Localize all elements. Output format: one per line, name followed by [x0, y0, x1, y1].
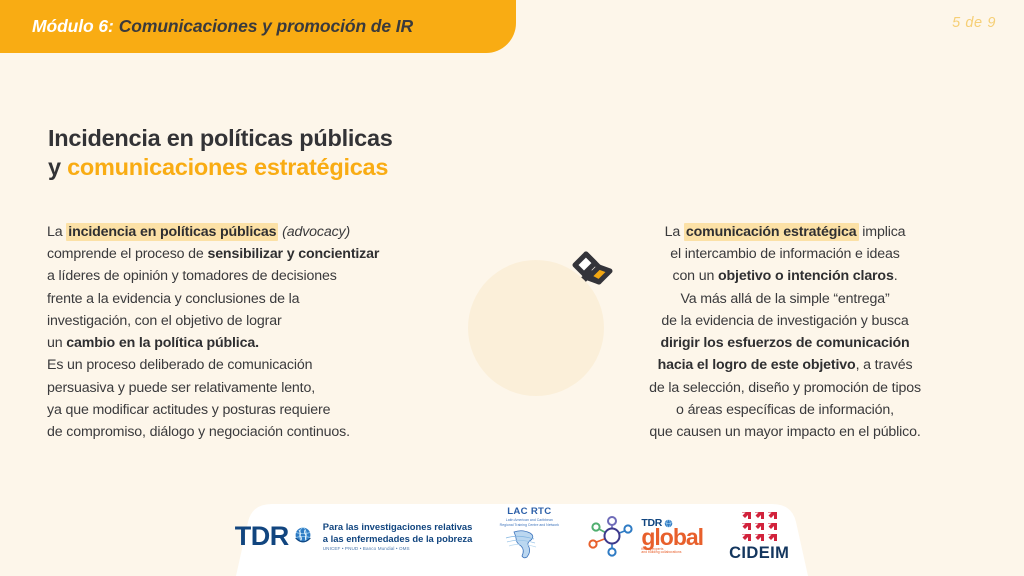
left-line-1-italic: (advocacy) — [278, 224, 350, 240]
left-line-5: investigación, con el objetivo de lograr — [47, 310, 517, 332]
left-line-3: a líderes de opinión y tomadores de deci… — [47, 265, 517, 287]
right-highlight-comunicacion: comunicación estratégica — [684, 223, 859, 241]
page-title-line-2-plain: y — [48, 154, 67, 180]
left-line-2-pre: comprende el proceso de — [47, 246, 207, 262]
right-line-3-bold: objetivo o intención claros — [718, 268, 894, 284]
right-line-5: de la evidencia de investigación y busca — [585, 310, 985, 332]
target-glow — [468, 260, 604, 396]
right-line-9: o áreas específicas de información, — [585, 399, 985, 421]
left-line-8: persuasiva y puede ser relativamente len… — [47, 377, 517, 399]
right-line-2: el intercambio de información e ideas — [585, 243, 985, 265]
right-line-7-bold: hacia el logro de este objetivo — [658, 357, 856, 373]
right-line-10: que causen un mayor impacto en el públic… — [585, 421, 985, 443]
module-banner: Módulo 6: Comunicaciones y promoción de … — [0, 0, 516, 53]
left-line-6-bold: cambio en la política pública. — [66, 335, 259, 351]
right-line-6: dirigir los esfuerzos de comunicación — [585, 332, 985, 354]
left-line-7: Es un proceso deliberado de comunicación — [47, 354, 517, 376]
left-line-1: La incidencia en políticas públicas (adv… — [47, 221, 517, 243]
right-line-7-post: , a través — [856, 357, 913, 373]
left-line-10: de compromiso, diálogo y negociación con… — [47, 421, 517, 443]
right-line-3: con un objetivo o intención claros. — [585, 265, 985, 287]
right-line-6-bold: dirigir los esfuerzos de comunicación — [660, 335, 909, 351]
module-label: Módulo 6: — [32, 16, 114, 37]
page-title-line-1: Incidencia en políticas públicas — [48, 124, 393, 153]
left-line-6: un cambio en la política pública. — [47, 332, 517, 354]
left-line-2: comprende el proceso de sensibilizar y c… — [47, 243, 517, 265]
footer-panel — [0, 496, 1024, 576]
right-line-1: La comunicación estratégica implica — [585, 221, 985, 243]
left-line-6-pre: un — [47, 335, 66, 351]
left-line-4: frente a la evidencia y conclusiones de … — [47, 288, 517, 310]
module-title: Comunicaciones y promoción de IR — [119, 16, 413, 37]
right-line-3-post: . — [894, 268, 898, 284]
right-paragraph: La comunicación estratégica implica el i… — [585, 221, 985, 443]
left-highlight-advocacy: incidencia en políticas públicas — [66, 223, 278, 241]
right-line-3-pre: con un — [673, 268, 719, 284]
left-line-2-bold: sensibilizar y concientizar — [207, 246, 379, 262]
page-title-line-2: y comunicaciones estratégicas — [48, 153, 393, 182]
left-line-1-pre: La — [47, 224, 66, 240]
left-line-9: ya que modificar actitudes y posturas re… — [47, 399, 517, 421]
page-title: Incidencia en políticas públicas y comun… — [48, 124, 393, 182]
right-line-1-post: implica — [859, 224, 906, 240]
right-line-7: hacia el logro de este objetivo, a travé… — [585, 354, 985, 376]
left-paragraph: La incidencia en políticas públicas (adv… — [47, 221, 517, 443]
page-title-line-2-accent: comunicaciones estratégicas — [67, 154, 388, 180]
right-line-1-pre: La — [665, 224, 684, 240]
right-line-8: de la selección, diseño y promoción de t… — [585, 377, 985, 399]
slide-counter: 5 de 9 — [952, 15, 996, 31]
right-line-4: Va más allá de la simple “entrega” — [585, 288, 985, 310]
